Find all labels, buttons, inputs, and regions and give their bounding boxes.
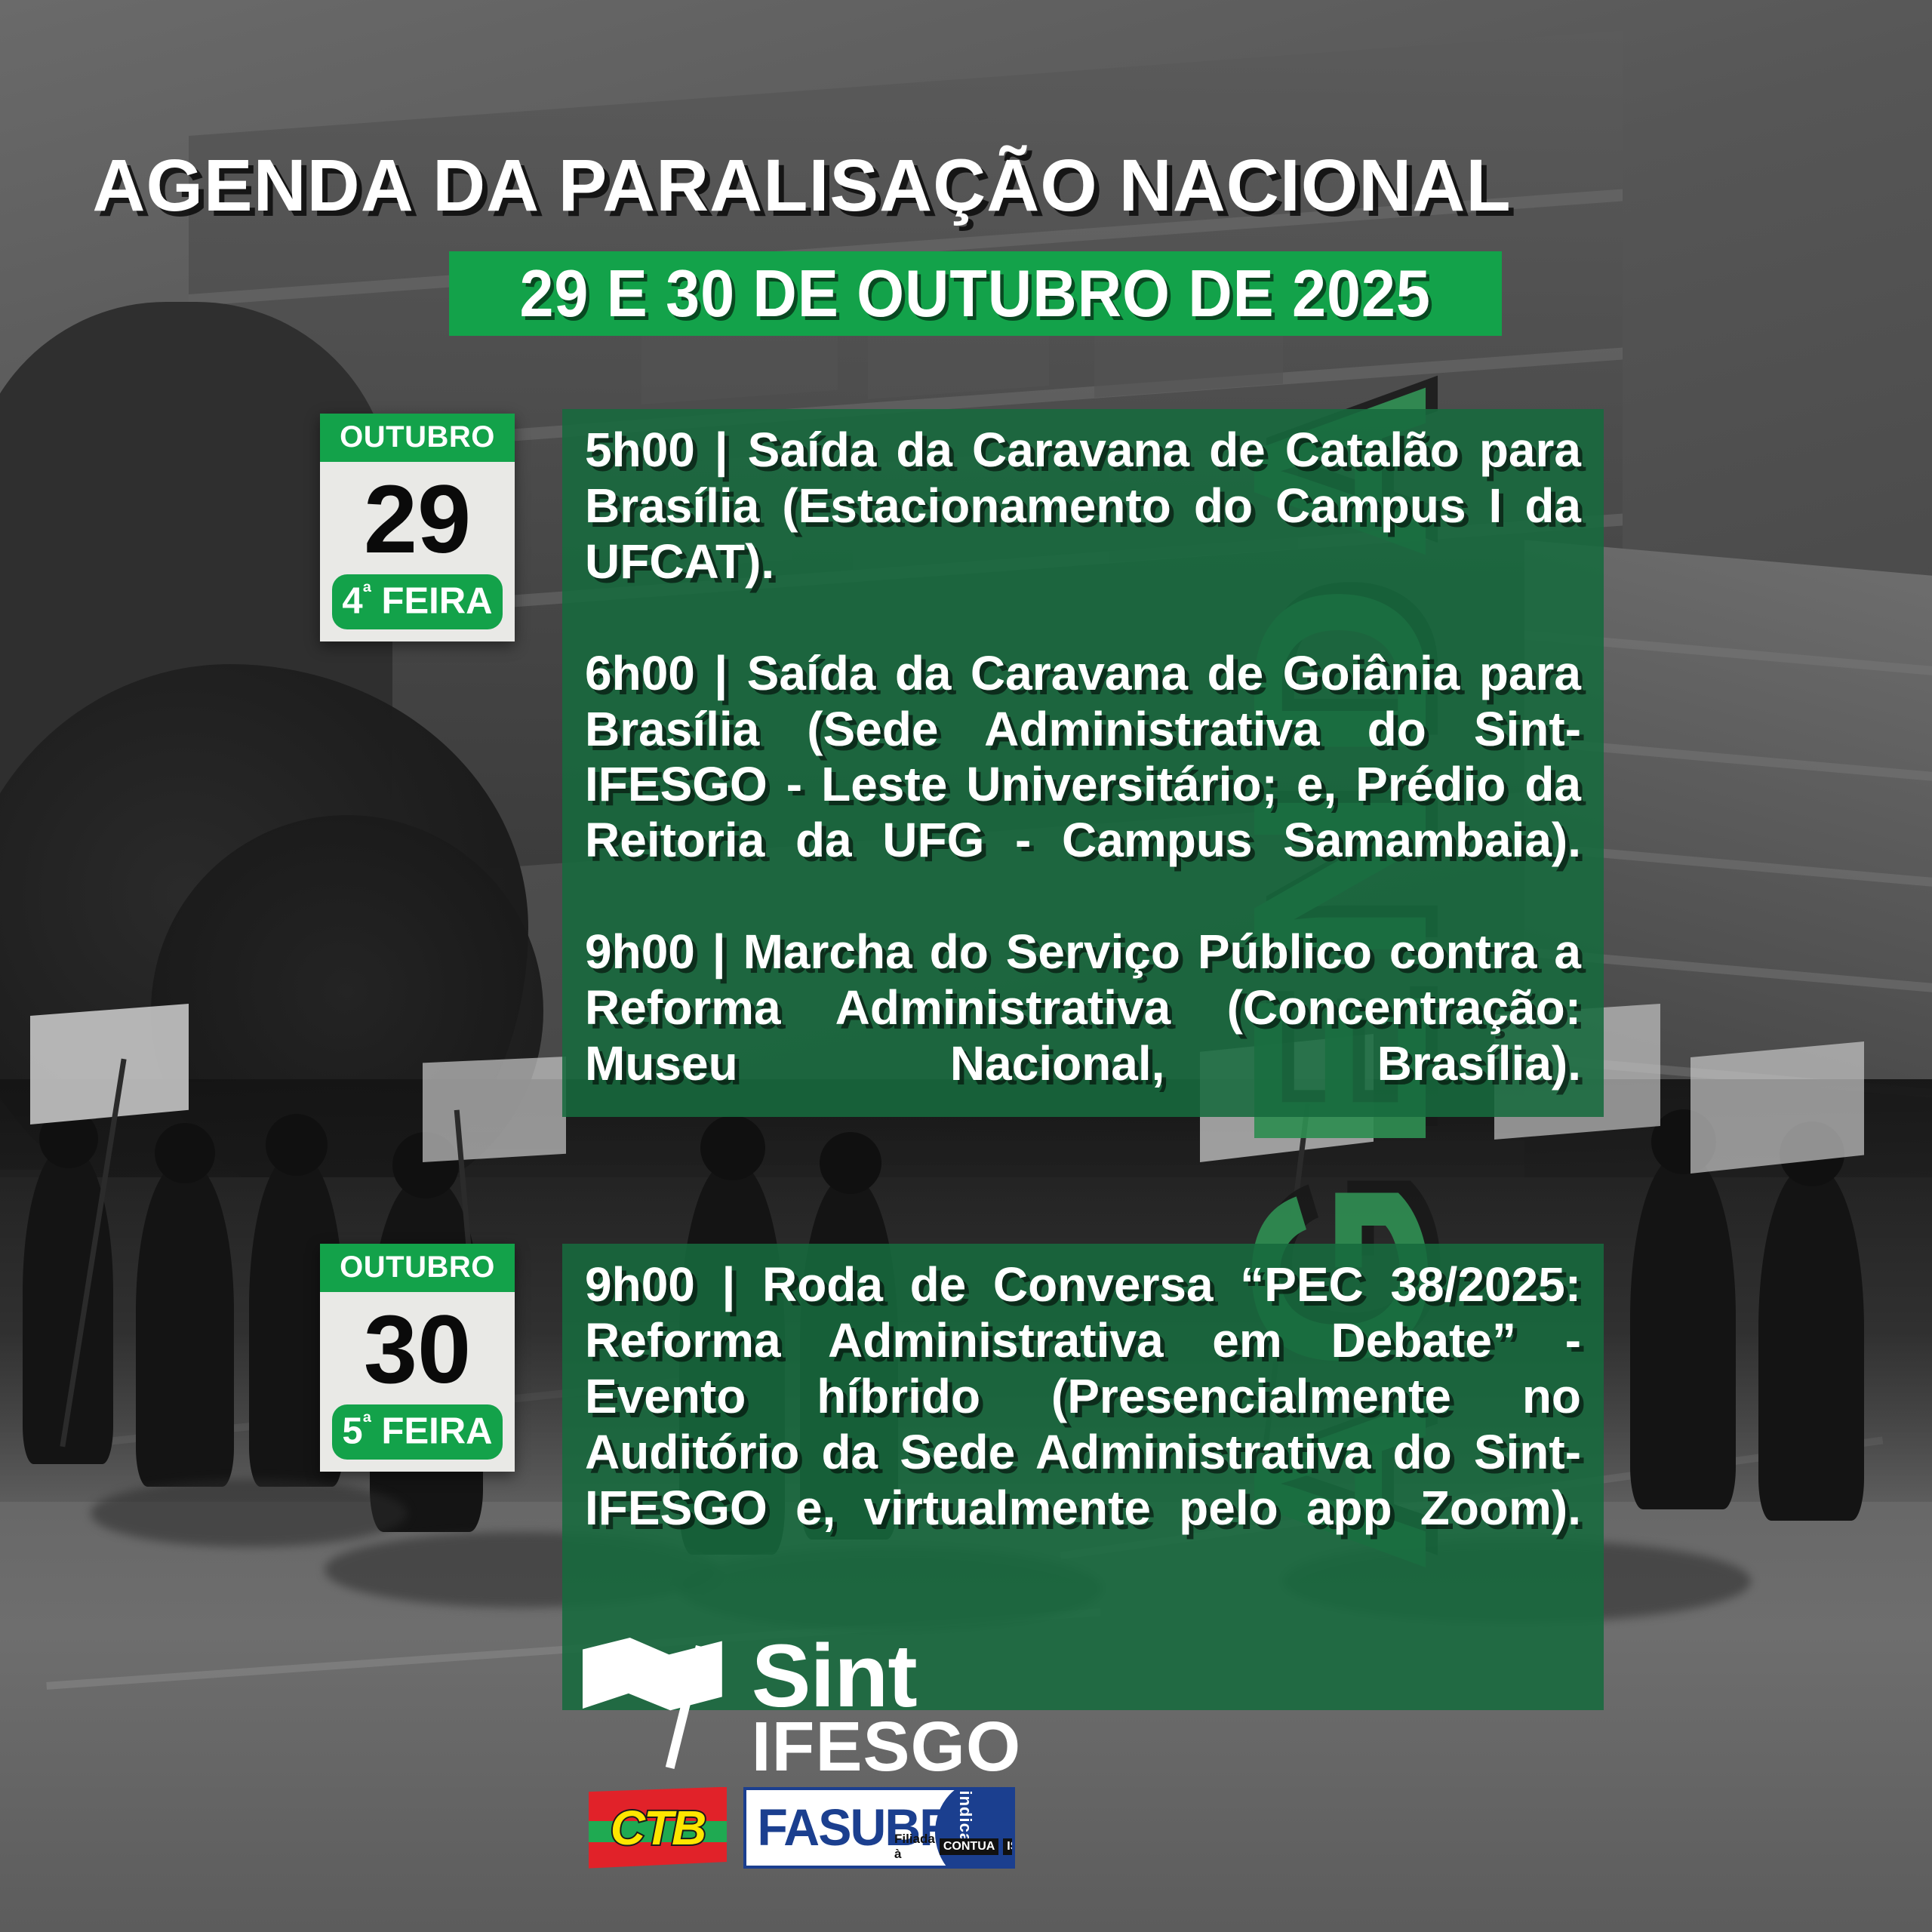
- date-card-30: OUTUBRO 30 5ª FEIRA: [320, 1244, 515, 1472]
- fasubra-affiliations: Filiada à CONTUA ISP CEA: [894, 1832, 1015, 1862]
- date-card-weekday: 5ª FEIRA: [332, 1404, 503, 1460]
- date-card-month: OUTUBRO: [320, 1244, 515, 1292]
- sint-ifesgo-wordmark: Sint IFESGO: [752, 1638, 1021, 1778]
- sint-ifesgo-logo: Sint IFESGO: [583, 1638, 1021, 1778]
- agenda-entry: 6h00 | Saída da Caravana de Goiânia para…: [585, 646, 1581, 925]
- flag-icon: [583, 1638, 741, 1766]
- weekday-label: FEIRA: [371, 580, 493, 621]
- poster-canvas: AGENDA AGENDA DA PARALISAÇÃO NACIONAL 29…: [0, 0, 1932, 1932]
- page-title: AGENDA DA PARALISAÇÃO NACIONAL: [0, 143, 1604, 228]
- footer-logos: Sint IFESGO CTB FASUBRA Sindical Filiada…: [0, 1638, 1604, 1869]
- agenda-entry: 9h00 | Marcha do Serviço Público contra …: [585, 924, 1581, 1148]
- affiliation-tag: CONTUA: [940, 1838, 998, 1855]
- affiliation-prefix: Filiada à: [894, 1832, 935, 1862]
- weekday-ordinal: ª: [363, 1410, 371, 1435]
- agenda-entry: 9h00 | Roda de Conversa “PEC 38/2025: Re…: [585, 1257, 1581, 1592]
- weekday-number: 5: [342, 1411, 362, 1451]
- date-card-weekday: 4ª FEIRA: [332, 574, 503, 629]
- date-card-29: OUTUBRO 29 4ª FEIRA: [320, 414, 515, 641]
- date-card-day-number: 30: [320, 1292, 515, 1404]
- partner-logos: CTB FASUBRA Sindical Filiada à CONTUA IS…: [589, 1787, 1015, 1869]
- sint-label: Sint: [752, 1638, 1021, 1716]
- fasubra-logo: FASUBRA Sindical Filiada à CONTUA ISP CE…: [743, 1787, 1015, 1869]
- date-card-day-number: 29: [320, 462, 515, 574]
- agenda-entry: 5h00 | Saída da Caravana de Catalão para…: [585, 423, 1581, 646]
- weekday-label: FEIRA: [371, 1411, 493, 1451]
- ctb-label: CTB: [611, 1800, 706, 1856]
- weekday-number: 4: [342, 580, 362, 621]
- ifesgo-label: IFESGO: [752, 1716, 1021, 1778]
- date-banner-text: 29 E 30 DE OUTUBRO DE 2025: [520, 255, 1431, 332]
- affiliation-tag: ISP: [1003, 1838, 1015, 1855]
- agenda-panel-29: 5h00 | Saída da Caravana de Catalão para…: [562, 409, 1604, 1117]
- ctb-logo: CTB: [589, 1787, 727, 1869]
- date-banner: 29 E 30 DE OUTUBRO DE 2025: [449, 251, 1502, 336]
- date-card-month: OUTUBRO: [320, 414, 515, 462]
- weekday-ordinal: ª: [363, 580, 371, 605]
